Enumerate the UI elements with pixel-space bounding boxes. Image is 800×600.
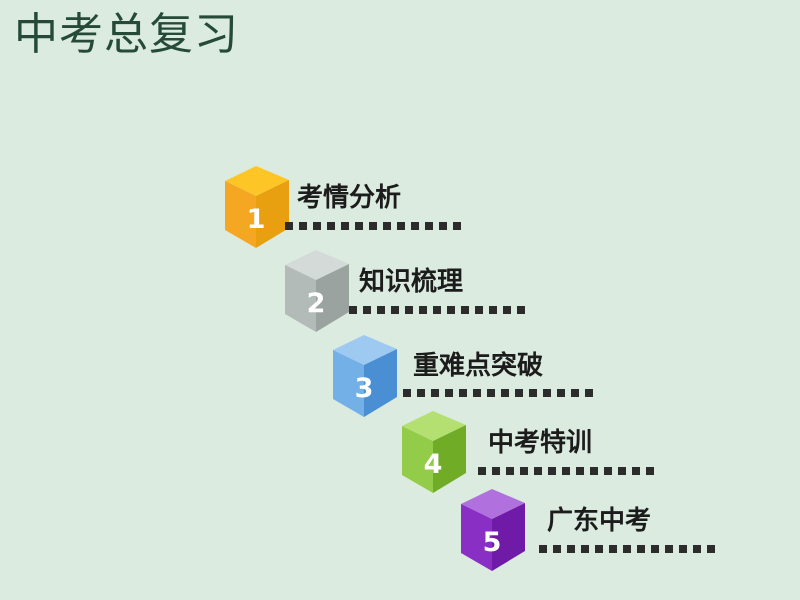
dot (571, 389, 579, 397)
cube-icon-1: 1 (219, 164, 293, 250)
dot (391, 306, 399, 314)
dot (327, 222, 335, 230)
dot (492, 467, 500, 475)
dot (489, 306, 497, 314)
cube-icon-4: 4 (396, 409, 470, 495)
dot (515, 389, 523, 397)
dot (576, 467, 584, 475)
dotted-underline-3 (403, 389, 593, 397)
dot (417, 389, 425, 397)
dot (313, 222, 321, 230)
dot (445, 389, 453, 397)
dot (363, 306, 371, 314)
dot (517, 306, 525, 314)
dotted-underline-5 (539, 545, 715, 553)
dotted-underline-2 (349, 306, 525, 314)
dot (487, 389, 495, 397)
cube-icon-5: 5 (455, 487, 529, 573)
step-item-1[interactable]: 1 考情分析 (219, 164, 619, 254)
dot (520, 467, 528, 475)
dot (595, 545, 603, 553)
step-item-4[interactable]: 4 中考特训 (396, 409, 796, 499)
cube-icon-2: 2 (279, 248, 353, 334)
dot (461, 306, 469, 314)
dot (453, 222, 461, 230)
dot (548, 467, 556, 475)
dot (553, 545, 561, 553)
dot (534, 467, 542, 475)
dot (411, 222, 419, 230)
dot (679, 545, 687, 553)
dot (431, 389, 439, 397)
dot (285, 222, 293, 230)
dot (567, 545, 575, 553)
dot (609, 545, 617, 553)
dot (581, 545, 589, 553)
dot (341, 222, 349, 230)
dot (543, 389, 551, 397)
dot (501, 389, 509, 397)
dot (405, 306, 413, 314)
dot (433, 306, 441, 314)
dot (665, 545, 673, 553)
dot (475, 306, 483, 314)
step-label-2: 知识梳理 (359, 261, 463, 298)
dot (529, 389, 537, 397)
dot (585, 389, 593, 397)
dot (439, 222, 447, 230)
dot (369, 222, 377, 230)
dot (623, 545, 631, 553)
step-label-4: 中考特训 (488, 422, 592, 459)
dot (562, 467, 570, 475)
step-item-5[interactable]: 5 广东中考 (455, 487, 800, 577)
cube-icon-3: 3 (327, 333, 401, 419)
dot (473, 389, 481, 397)
dotted-underline-4 (478, 467, 654, 475)
dot (403, 389, 411, 397)
step-label-1: 考情分析 (297, 177, 401, 214)
dot (637, 545, 645, 553)
slide-canvas: 中考总复习 1 考情分析 2 知识梳理 (0, 0, 800, 600)
dot (651, 545, 659, 553)
dot (478, 467, 486, 475)
dotted-underline-1 (285, 222, 461, 230)
step-item-2[interactable]: 2 知识梳理 (279, 248, 679, 338)
dot (397, 222, 405, 230)
dot (506, 467, 514, 475)
dot (618, 467, 626, 475)
dot (377, 306, 385, 314)
dot (383, 222, 391, 230)
dot (459, 389, 467, 397)
dot (693, 545, 701, 553)
dot (447, 306, 455, 314)
dot (590, 467, 598, 475)
dot (425, 222, 433, 230)
dot (557, 389, 565, 397)
dot (632, 467, 640, 475)
dot (604, 467, 612, 475)
dot (646, 467, 654, 475)
dot (419, 306, 427, 314)
step-label-3: 重难点突破 (413, 345, 543, 382)
dot (707, 545, 715, 553)
dot (539, 545, 547, 553)
dot (355, 222, 363, 230)
page-title: 中考总复习 (14, 10, 239, 61)
step-label-5: 广东中考 (547, 500, 651, 537)
dot (349, 306, 357, 314)
dot (299, 222, 307, 230)
dot (503, 306, 511, 314)
